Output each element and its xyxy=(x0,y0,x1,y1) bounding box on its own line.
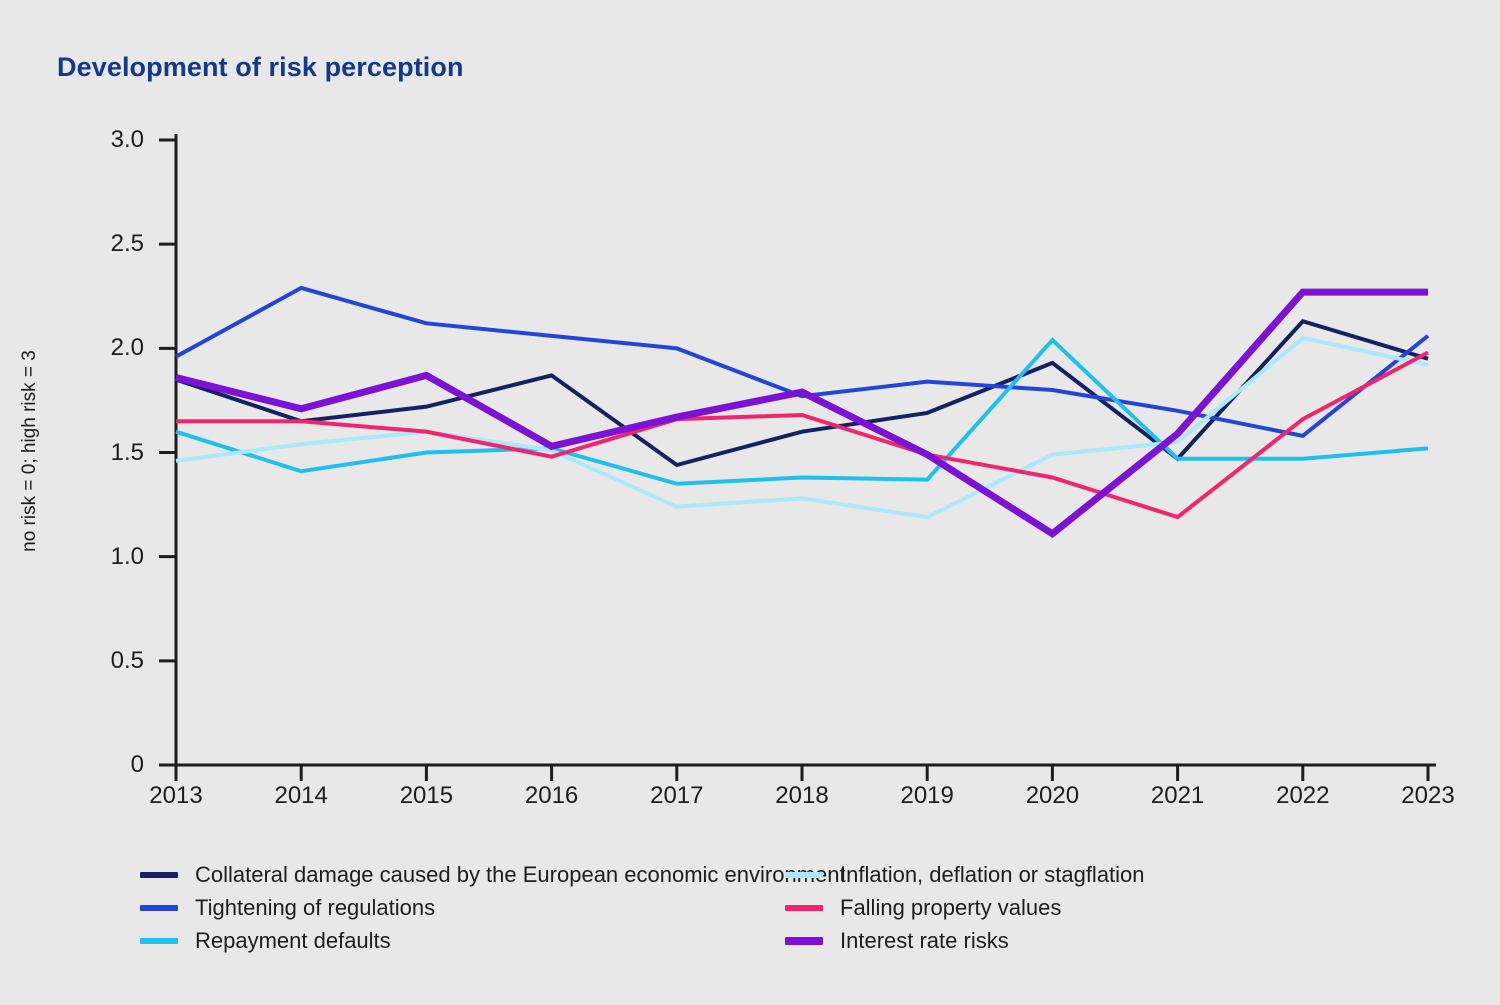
legend-swatch-icon xyxy=(785,872,823,878)
legend-label: Interest rate risks xyxy=(840,928,1009,954)
legend-label: Repayment defaults xyxy=(195,928,391,954)
x-tick-2013: 2013 xyxy=(121,782,231,810)
y-axis-title: no risk = 0; high risk = 3 xyxy=(19,241,41,661)
legend-column-left: Collateral damage caused by the European… xyxy=(140,858,785,957)
legend-item-right-1[interactable]: Falling property values xyxy=(785,891,1430,924)
legend-label: Collateral damage caused by the European… xyxy=(195,862,846,888)
y-tick-2.0: 2.0 xyxy=(84,334,144,362)
y-tick-3.0: 3.0 xyxy=(84,126,144,154)
series-line-falling-property-values xyxy=(176,353,1428,518)
y-tick-0.5: 0.5 xyxy=(84,647,144,675)
legend-item-right-0[interactable]: Inflation, deflation or stagflation xyxy=(785,858,1430,891)
x-tick-2023: 2023 xyxy=(1373,782,1483,810)
x-tick-2015: 2015 xyxy=(371,782,481,810)
x-tick-2014: 2014 xyxy=(246,782,356,810)
x-tick-2019: 2019 xyxy=(872,782,982,810)
legend-item-left-0[interactable]: Collateral damage caused by the European… xyxy=(140,858,785,891)
legend-label: Inflation, deflation or stagflation xyxy=(840,862,1145,888)
y-tick-0: 0 xyxy=(84,751,144,779)
legend-swatch-icon xyxy=(785,905,823,911)
x-tick-2022: 2022 xyxy=(1248,782,1358,810)
legend-item-right-2[interactable]: Interest rate risks xyxy=(785,924,1430,957)
y-tick-1.0: 1.0 xyxy=(84,543,144,571)
y-tick-2.5: 2.5 xyxy=(84,230,144,258)
x-tick-2021: 2021 xyxy=(1123,782,1233,810)
chart-legend: Collateral damage caused by the European… xyxy=(140,858,1430,957)
y-tick-1.5: 1.5 xyxy=(84,439,144,467)
legend-item-left-2[interactable]: Repayment defaults xyxy=(140,924,785,957)
legend-item-left-1[interactable]: Tightening of regulations xyxy=(140,891,785,924)
x-tick-2018: 2018 xyxy=(747,782,857,810)
x-tick-2016: 2016 xyxy=(497,782,607,810)
risk-perception-line-chart: no risk = 0; high risk = 3 3.02.52.01.51… xyxy=(0,0,1500,1000)
legend-swatch-icon xyxy=(140,938,178,944)
legend-column-right: Inflation, deflation or stagflationFalli… xyxy=(785,858,1430,957)
x-tick-2017: 2017 xyxy=(622,782,732,810)
x-tick-2020: 2020 xyxy=(997,782,1107,810)
legend-swatch-icon xyxy=(785,937,823,945)
legend-label: Tightening of regulations xyxy=(195,895,435,921)
legend-label: Falling property values xyxy=(840,895,1061,921)
plot-svg xyxy=(0,0,1500,1000)
legend-swatch-icon xyxy=(140,905,178,911)
legend-swatch-icon xyxy=(140,872,178,878)
